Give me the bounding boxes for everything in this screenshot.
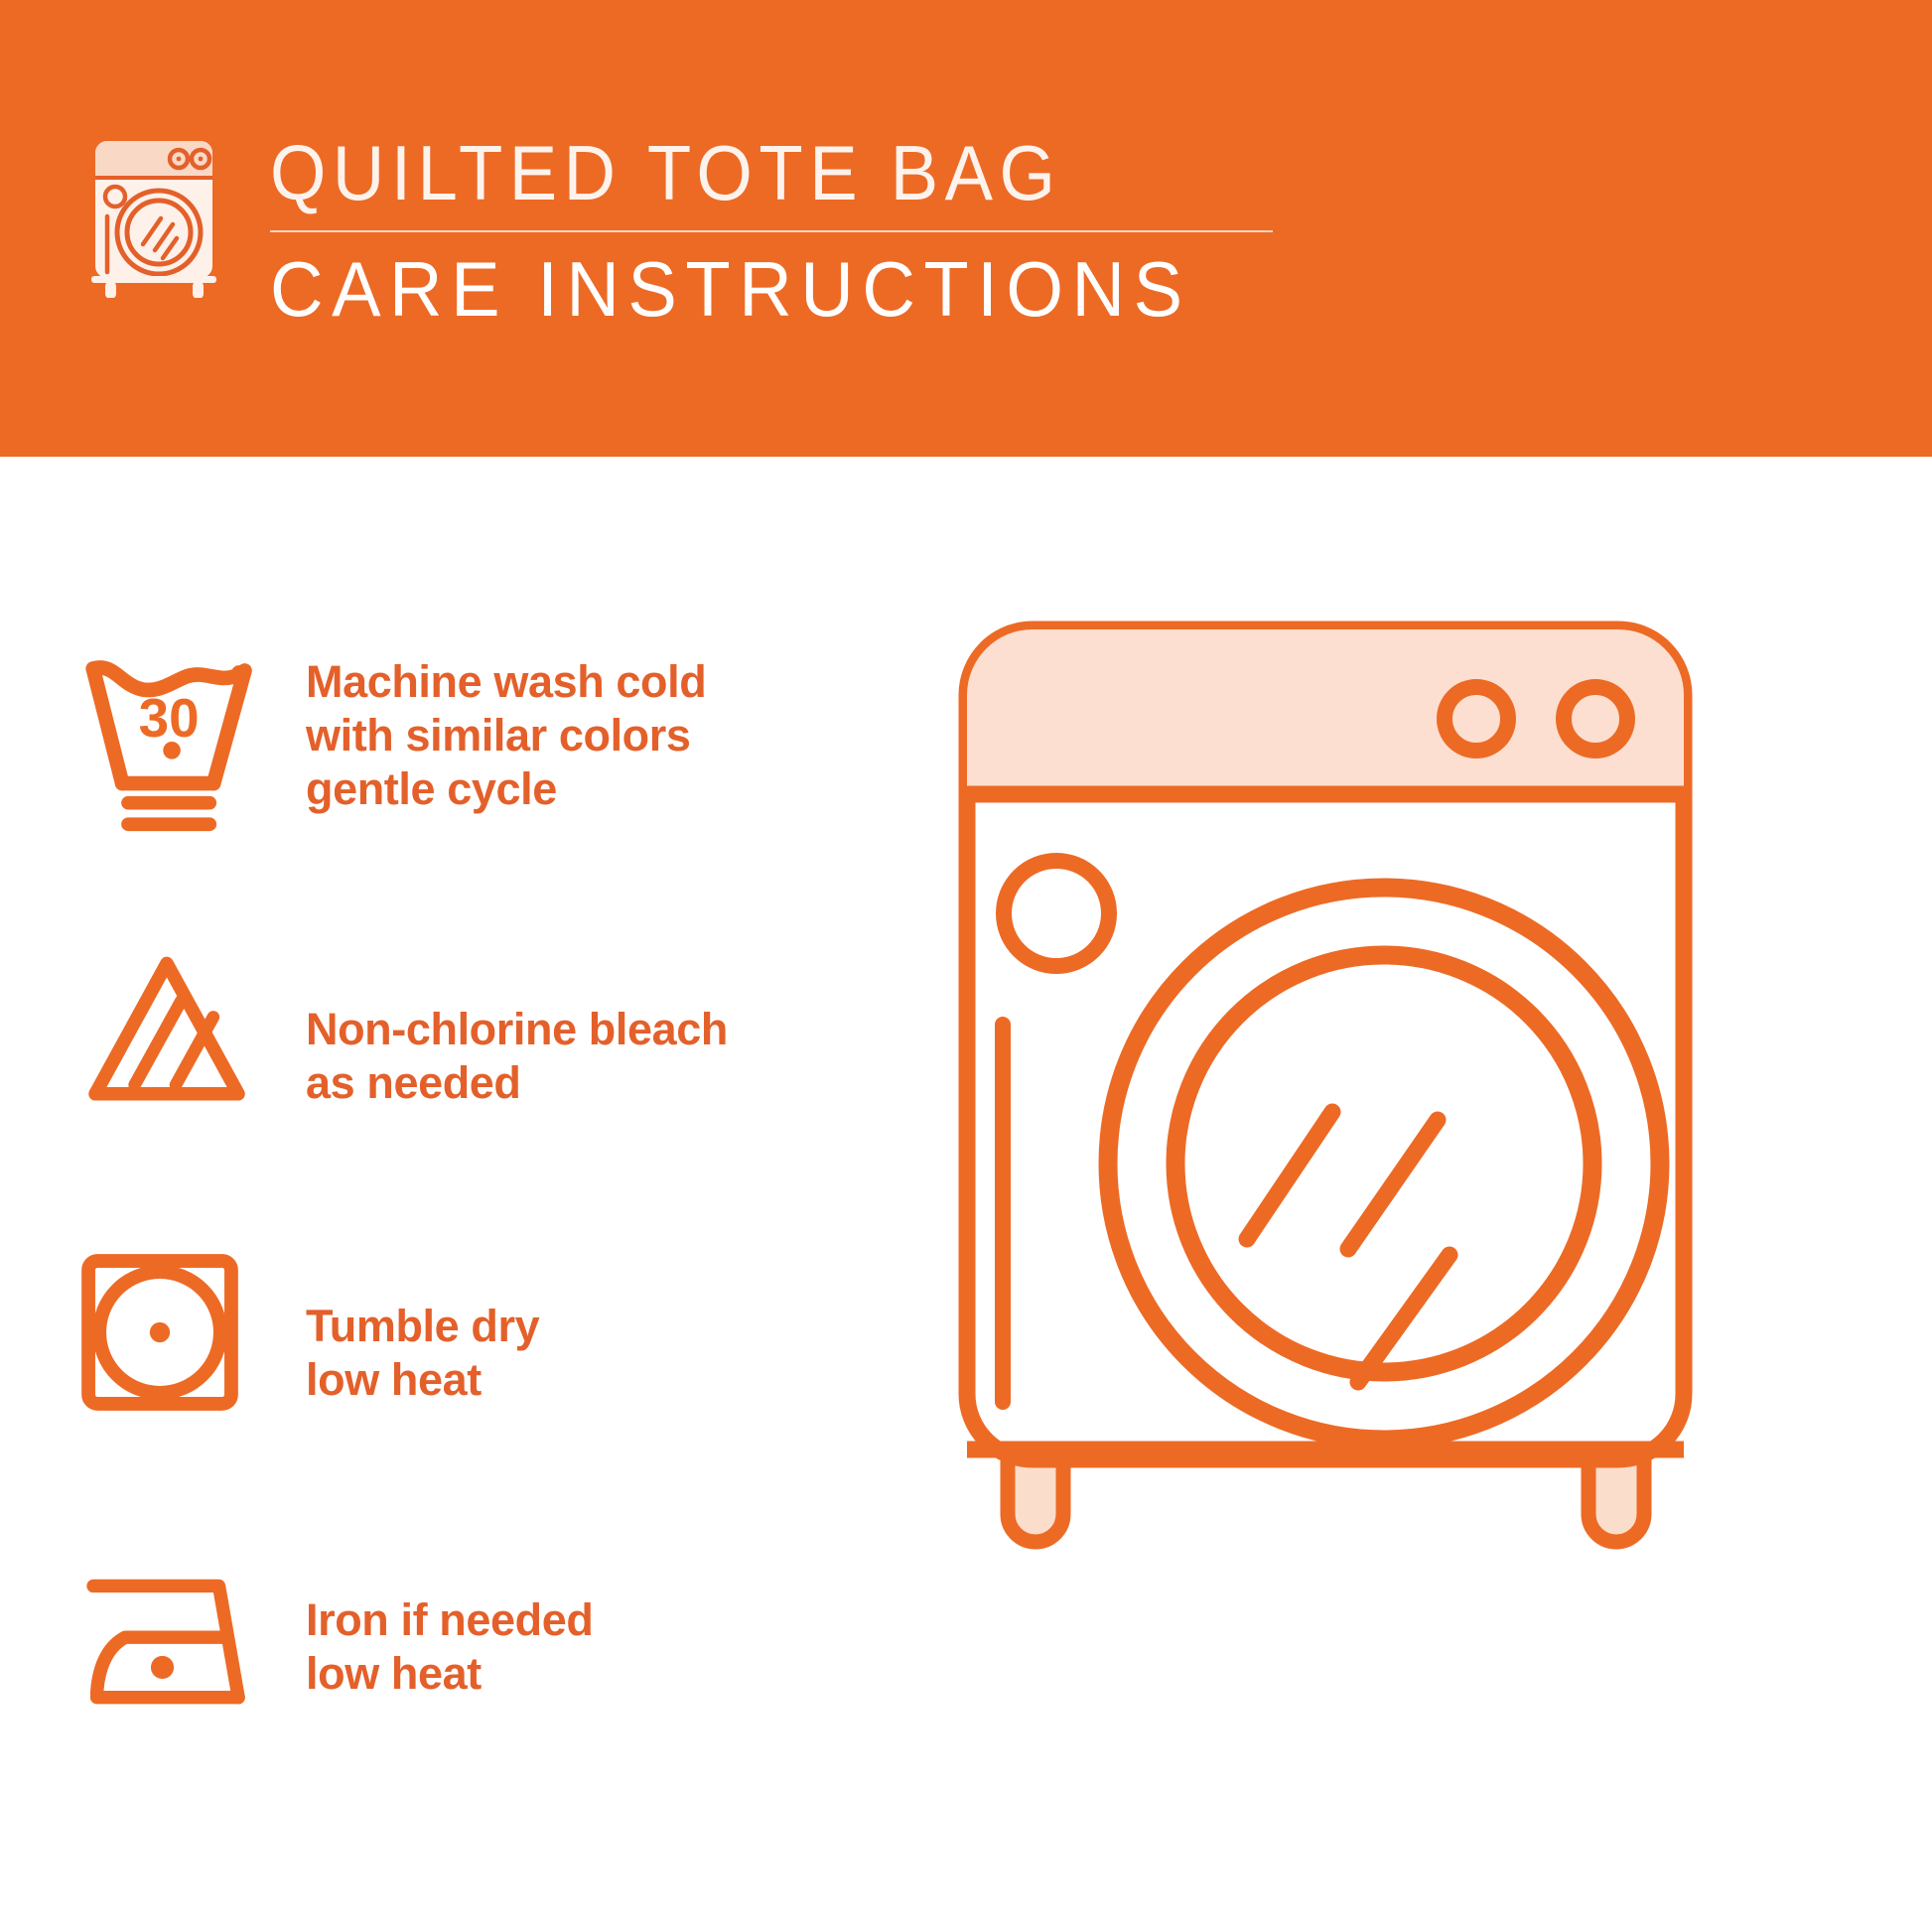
wash-tub-30-gentle-icon: 30 — [77, 643, 306, 834]
control-panel — [967, 629, 1684, 794]
title-divider — [270, 230, 1273, 232]
header-band: QUILTED TOTE BAG CARE INSTRUCTIONS — [0, 0, 1932, 457]
header-title-block: QUILTED TOTE BAG CARE INSTRUCTIONS — [270, 127, 1273, 332]
care-row-iron: Iron if needed low heat — [77, 1542, 832, 1790]
care-row-bleach: Non-chlorine bleach as needed — [77, 941, 832, 1234]
washing-machine-icon — [77, 127, 236, 298]
tumble-dry-low-heat-icon — [77, 1234, 306, 1415]
care-label-line: with similar colors — [306, 709, 706, 762]
care-label-line: Tumble dry — [306, 1300, 539, 1353]
care-label-line: Iron if needed — [306, 1593, 593, 1647]
care-row-machine-wash: 30 Machine wash cold with similar colors… — [77, 643, 832, 941]
care-label-machine-wash: Machine wash cold with similar colors ge… — [306, 643, 706, 816]
care-label-bleach: Non-chlorine bleach as needed — [306, 941, 728, 1110]
iron-low-heat-icon — [77, 1542, 306, 1714]
care-label-line: Non-chlorine bleach — [306, 1003, 728, 1056]
care-instructions-page: QUILTED TOTE BAG CARE INSTRUCTIONS — [0, 0, 1932, 1932]
care-label-tumble-dry: Tumble dry low heat — [306, 1234, 539, 1407]
page-title: QUILTED TOTE BAG — [270, 131, 1202, 214]
care-label-line: as needed — [306, 1056, 728, 1110]
care-label-line: low heat — [306, 1647, 593, 1701]
care-row-tumble-dry: Tumble dry low heat — [77, 1234, 832, 1542]
care-label-line: Machine wash cold — [306, 655, 706, 709]
header-content: QUILTED TOTE BAG CARE INSTRUCTIONS — [77, 127, 1273, 332]
care-label-iron: Iron if needed low heat — [306, 1542, 593, 1701]
care-symbol-list: 30 Machine wash cold with similar colors… — [77, 643, 832, 1790]
svg-text:30: 30 — [139, 687, 200, 749]
care-label-line: low heat — [306, 1353, 539, 1407]
care-label-line: gentle cycle — [306, 762, 706, 816]
page-subtitle: CARE INSTRUCTIONS — [270, 246, 1223, 332]
washing-machine-illustration — [953, 616, 1747, 1866]
triangle-non-chlorine-bleach-icon — [77, 941, 306, 1110]
